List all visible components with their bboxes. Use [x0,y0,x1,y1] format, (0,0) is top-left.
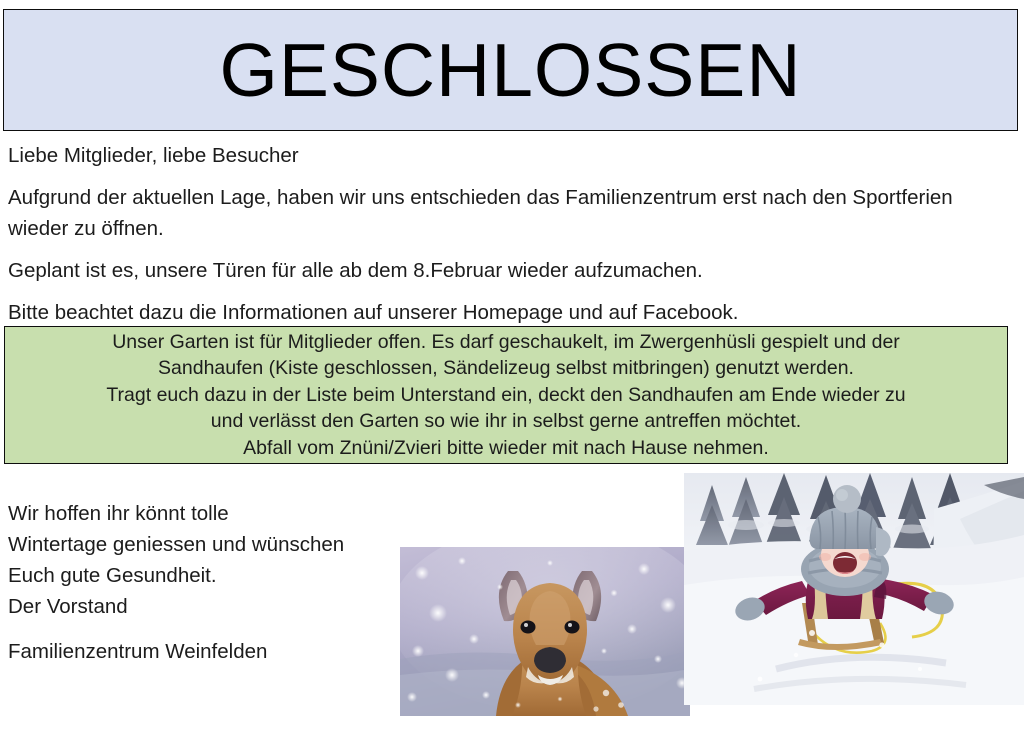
greeting-line: Liebe Mitglieder, liebe Besucher [8,140,1008,171]
garden-notice-line: Abfall vom Znüni/Zvieri bitte wieder mit… [243,435,769,462]
closing-line: Wir hoffen ihr könnt tolle [8,498,398,529]
garden-notice-line: und verlässt den Garten so wie ihr in se… [211,408,801,435]
organisation-name: Familienzentrum Weinfelden [8,636,398,667]
garden-rules-notice: Unser Garten ist für Mitglieder offen. E… [4,326,1008,464]
child-sledding-photo [684,473,1024,705]
info-channels-paragraph: Bitte beachtet dazu die Informationen au… [8,297,1008,328]
garden-notice-line: Unser Garten ist für Mitglieder offen. E… [112,329,900,356]
closing-text-block: Wir hoffen ihr könnt tolle Wintertage ge… [8,498,398,667]
garden-notice-line: Tragt euch dazu in der Liste beim Unters… [106,382,905,409]
reopening-date-paragraph: Geplant ist es, unsere Türen für alle ab… [8,255,1008,286]
closing-line: Euch gute Gesundheit. [8,560,398,591]
sledding-illustration [684,473,1024,705]
page-title: GESCHLOSSEN [220,33,802,108]
deer-in-snow-photo [400,547,690,716]
garden-notice-line: Sandhaufen (Kiste geschlossen, Sändelize… [158,355,854,382]
deer-illustration [400,547,690,716]
closure-reason-paragraph: Aufgrund der aktuellen Lage, haben wir u… [8,182,1008,244]
intro-text-block: Liebe Mitglieder, liebe Besucher Aufgrun… [8,140,1008,328]
closed-banner: GESCHLOSSEN [3,9,1018,131]
closing-line: Wintertage geniessen und wünschen [8,529,398,560]
signature-line: Der Vorstand [8,591,398,622]
